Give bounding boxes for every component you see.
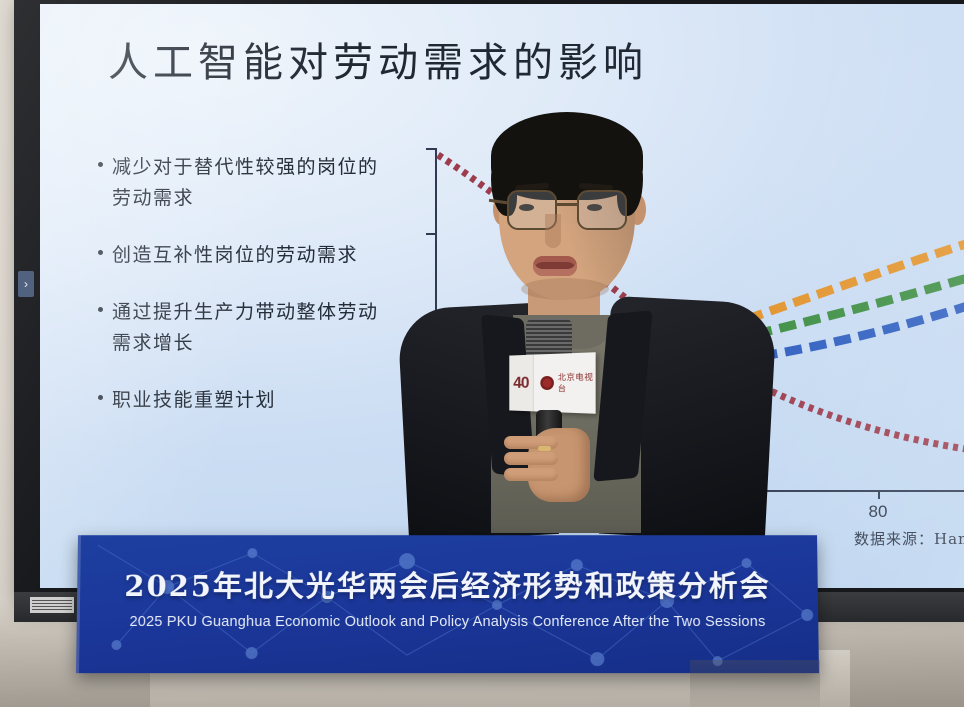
eyeglasses — [503, 190, 633, 230]
microphone-flag: 40 北京电视台 — [509, 352, 595, 414]
broadcaster-logo-icon — [540, 376, 554, 390]
chin-shading — [521, 278, 609, 300]
bullet-dot-icon — [98, 395, 103, 400]
list-item: 通过提升生产力带动整体劳动需求增长 — [98, 297, 398, 359]
list-item: 创造互补性岗位的劳动需求 — [98, 240, 398, 271]
bullet-text: 职业技能重塑计划 — [112, 385, 276, 416]
chevron-right-glyph: › — [24, 278, 28, 290]
bullet-text: 通过提升生产力带动整体劳动需求增长 — [112, 297, 398, 359]
x-tick-mark — [878, 490, 880, 499]
bullet-dot-icon — [98, 250, 103, 255]
x-tick-label: 80 — [869, 502, 888, 522]
finger — [504, 452, 558, 465]
flag-station-name: 北京电视台 — [558, 371, 596, 394]
conference-photo-scene: 人工智能对劳动需求的影响 减少对于替代性较强的岗位的劳动需求 创造互补性岗位的劳… — [0, 0, 964, 707]
flag-panel-right: 北京电视台 — [535, 352, 596, 414]
lens-right — [577, 190, 627, 230]
flag-number: 40 — [513, 373, 528, 392]
ring — [538, 446, 551, 451]
slide-bullet-list: 减少对于替代性较强的岗位的劳动需求 创造互补性岗位的劳动需求 通过提升生产力带动… — [98, 152, 398, 442]
list-item: 减少对于替代性较强的岗位的劳动需求 — [98, 152, 398, 214]
bullet-dot-icon — [98, 162, 103, 167]
bullet-text: 创造互补性岗位的劳动需求 — [112, 240, 358, 271]
slide-title: 人工智能对劳动需求的影响 — [108, 30, 728, 88]
finger — [504, 468, 558, 481]
banner-title-chinese: 2025年北大光华两会后经济形势和政策分析会 — [77, 563, 818, 605]
nose — [545, 214, 561, 248]
next-slide-chevron-icon[interactable]: › — [18, 271, 34, 297]
microphone-grille — [526, 318, 572, 358]
flag-panel-left: 40 — [509, 355, 533, 412]
mouth — [533, 256, 577, 276]
banner-title-english: 2025 PKU Guanghua Economic Outlook and P… — [77, 614, 819, 630]
chart-source-note: 数据来源：Hampole — [854, 528, 964, 549]
handheld-microphone: 40 北京电视台 — [500, 318, 600, 498]
list-item: 职业技能重塑计划 — [98, 385, 398, 416]
podium-shadow — [690, 660, 820, 707]
glasses-bridge — [557, 203, 577, 206]
bullet-text: 减少对于替代性较强的岗位的劳动需求 — [112, 152, 398, 214]
display-label-sticker — [30, 597, 74, 613]
sticker-barcode-lines — [32, 600, 72, 610]
bullet-dot-icon — [98, 307, 103, 312]
conference-banner: 2025年北大光华两会后经济形势和政策分析会 2025 PKU Guanghua… — [76, 535, 819, 673]
